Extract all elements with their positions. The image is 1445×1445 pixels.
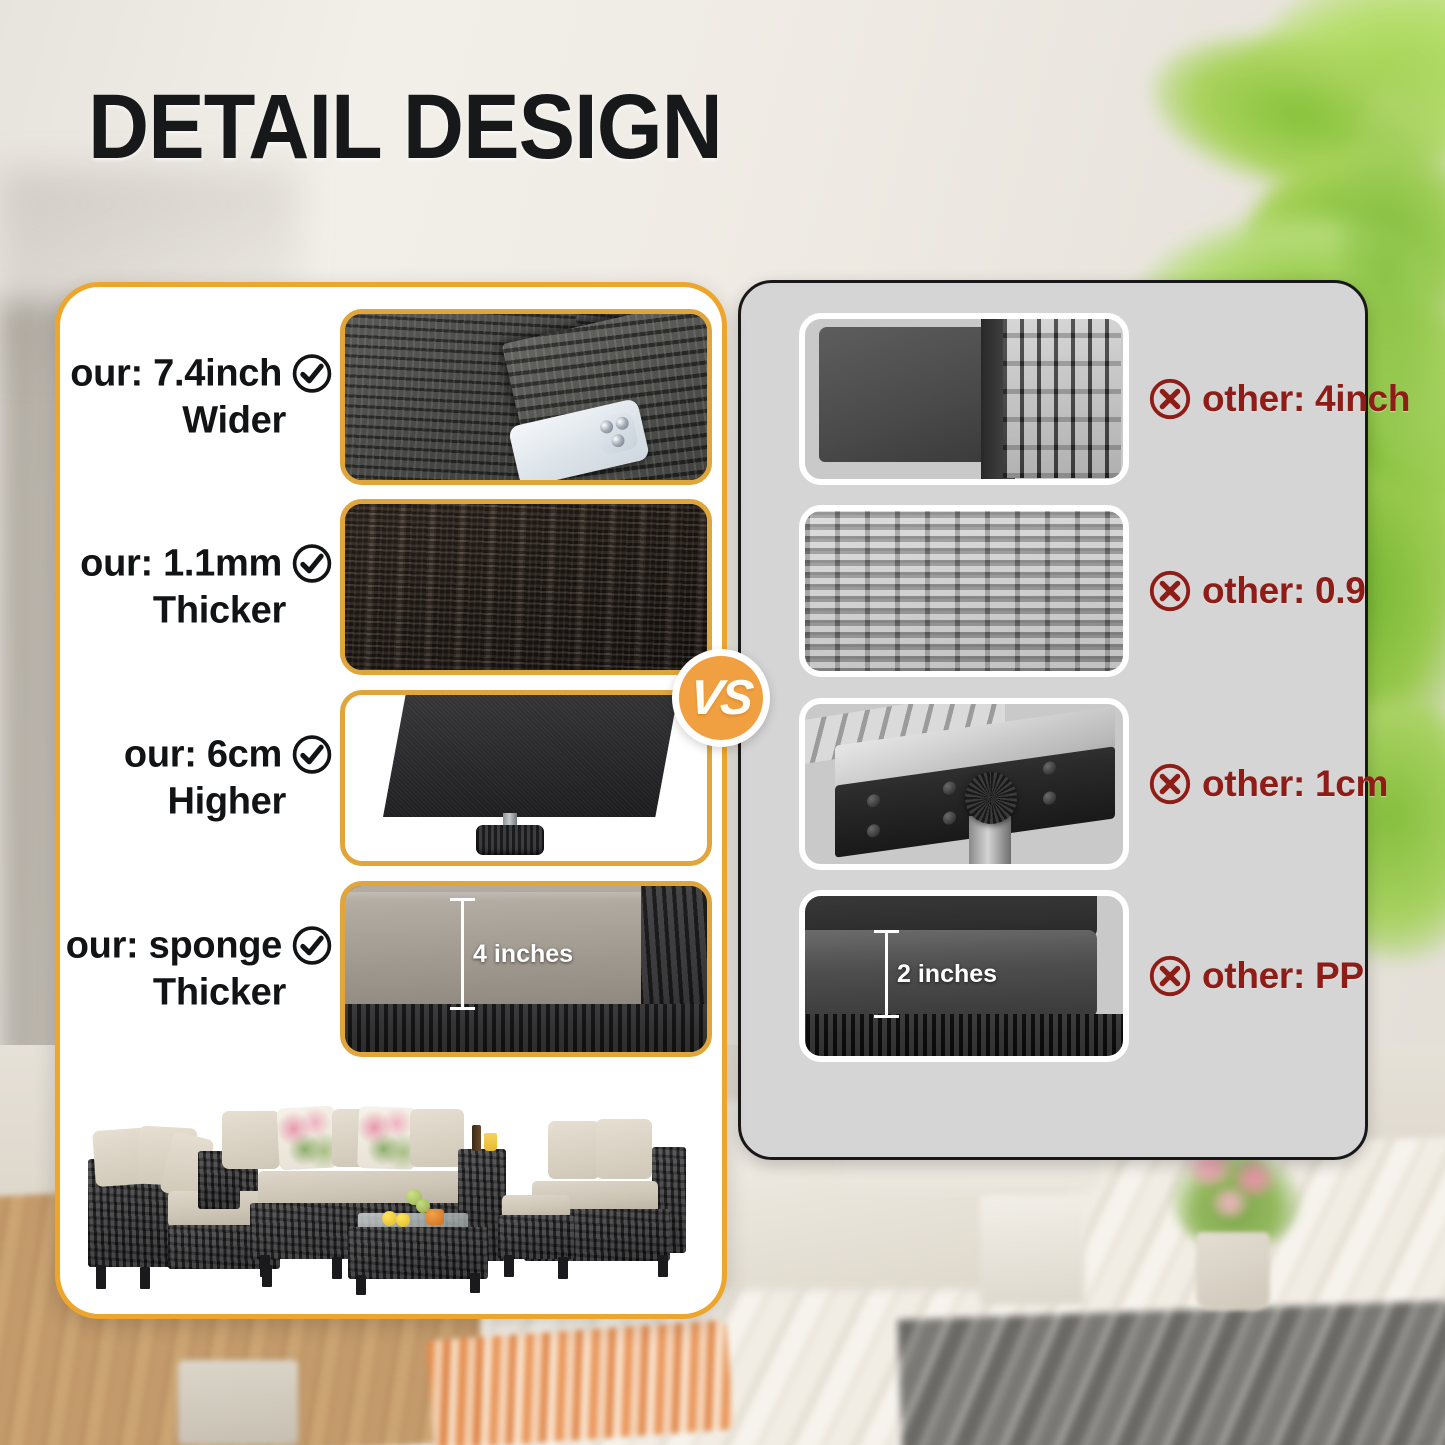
sofa-seat-cushion (258, 1171, 474, 1205)
our-row: our: 7.4inch Wider (76, 309, 716, 485)
our-row: our: 1.1mm Thicker (76, 499, 716, 675)
background-dark-rug (898, 1300, 1445, 1445)
our-label-text: our: sponge (66, 924, 282, 967)
infographic-canvas: DETAIL DESIGN other: 4inch (0, 0, 1445, 1445)
other-row: other: 1cm (799, 698, 1371, 870)
our-row: our: 6cm Higher (76, 690, 716, 866)
other-label-text: other: 4inch (1202, 378, 1410, 420)
measurement-label: 2 inches (897, 960, 997, 989)
sofa-floral-pillow (357, 1106, 417, 1170)
x-circle-icon (1147, 376, 1193, 422)
tall-adjustable-leg-photo (340, 690, 712, 866)
our-label-text: our: 6cm (124, 733, 282, 776)
rivet-icon (943, 811, 956, 826)
ottoman-leg (558, 1257, 568, 1279)
basket-weave-texture (345, 504, 707, 670)
camera-lens-icon (614, 415, 630, 431)
rivet-icon (867, 793, 880, 808)
thin-rattan-weave-closeup-photo (799, 505, 1129, 677)
other-label: other: 1cm (1147, 761, 1388, 807)
drink-glass-icon (484, 1133, 497, 1151)
our-label: our: sponge Thicker (76, 924, 334, 1015)
page-title: DETAIL DESIGN (88, 75, 722, 180)
bottle-icon (472, 1125, 481, 1151)
flower-pot (1196, 1232, 1270, 1310)
ottoman-leg (504, 1255, 514, 1277)
other-row: other: 4inch (799, 313, 1371, 485)
rivet-icon (1043, 761, 1056, 776)
other-label: other: 0.9 (1147, 568, 1366, 614)
background-side-table (980, 1195, 1085, 1305)
lemon-icon (396, 1213, 410, 1227)
our-label-subtext: Thicker (76, 590, 334, 633)
other-label: other: 4inch (1147, 376, 1410, 422)
background-stool (178, 1360, 298, 1445)
wicker-column (1003, 313, 1121, 478)
rivet-icon (867, 823, 880, 838)
narrow-armrest-photo (799, 313, 1129, 485)
adjustable-foot-icon (476, 825, 544, 855)
sofa-leg (96, 1265, 106, 1289)
check-circle-icon (290, 352, 334, 396)
sofa-floral-pillow (276, 1106, 337, 1171)
camera-lens-icon (610, 433, 626, 449)
sofa-back-pillow (410, 1109, 464, 1167)
other-row: 2 inches other: PP (799, 890, 1371, 1062)
table-leg (356, 1275, 366, 1295)
phone-camera-module-icon (594, 410, 640, 456)
flower-bloom-icon (1212, 1188, 1248, 1218)
sofa-back-pillow (548, 1121, 600, 1179)
vs-label: VS (687, 670, 754, 726)
rattan-base (340, 1004, 712, 1057)
cushion-side-wicker (641, 881, 712, 1022)
lemon-icon (382, 1211, 397, 1226)
sofa-leg (332, 1257, 342, 1279)
check-circle-icon (290, 542, 334, 586)
camera-lens-icon (599, 419, 615, 435)
thin-weave-texture (805, 511, 1123, 671)
wide-armrest-with-phone-photo (340, 309, 712, 485)
adjuster-knob-icon (965, 772, 1017, 824)
our-label-subtext: Thicker (76, 972, 334, 1015)
x-circle-icon (1147, 761, 1193, 807)
our-label-text: our: 7.4inch (70, 352, 282, 395)
measurement-bar (885, 930, 888, 1018)
x-circle-icon (1147, 953, 1193, 999)
support-post (969, 816, 1011, 870)
check-circle-icon (290, 733, 334, 777)
other-label: other: PP (1147, 953, 1364, 999)
other-comparison-panel: other: 4inch other: 0.9 (738, 280, 1368, 1160)
check-circle-icon (290, 924, 334, 968)
ottoman-body (498, 1215, 574, 1259)
our-label: our: 7.4inch Wider (76, 352, 334, 443)
sofa-leg (658, 1255, 668, 1277)
cushion-measurement: 2 inches (885, 930, 997, 1018)
other-label-text: other: 0.9 (1202, 570, 1366, 612)
tapered-leg (383, 690, 679, 817)
thin-pp-cushion-photo: 2 inches (799, 890, 1129, 1062)
other-label-text: other: PP (1202, 955, 1364, 997)
sofa-leg (260, 1255, 270, 1277)
measurement-label: 4 inches (473, 940, 573, 969)
background-striped-towel (427, 1320, 734, 1445)
cushion-measurement: 4 inches (461, 898, 573, 1010)
x-circle-icon (1147, 568, 1193, 614)
our-row: our: sponge Thicker 4 inches (76, 881, 716, 1057)
our-label-subtext: Wider (76, 400, 334, 443)
rattan-base (799, 1014, 1129, 1062)
thick-rattan-weave-closeup-photo (340, 499, 712, 675)
other-row: other: 0.9 (799, 505, 1371, 677)
vs-badge: VS (672, 649, 770, 747)
fruit-bowl-icon (426, 1209, 444, 1225)
measurement-bar (461, 898, 464, 1010)
short-leg-bracket-photo (799, 698, 1129, 870)
coffee-table-body (348, 1227, 488, 1279)
rivet-icon (1043, 791, 1056, 806)
table-leg (470, 1273, 480, 1293)
other-label-text: other: 1cm (1202, 763, 1388, 805)
our-comparison-panel: our: 7.4inch Wider (55, 282, 727, 1319)
sofa-back-pillow (596, 1119, 652, 1179)
sofa-leg (140, 1267, 150, 1289)
our-label: our: 6cm Higher (76, 733, 334, 824)
rivet-icon (943, 781, 956, 796)
our-label: our: 1.1mm Thicker (76, 542, 334, 633)
sofa-back-pillow (222, 1111, 280, 1169)
our-label-subtext: Higher (76, 781, 334, 824)
our-label-text: our: 1.1mm (80, 542, 282, 585)
thick-sponge-cushion-photo: 4 inches (340, 881, 712, 1057)
full-sectional-sofa-set-photo (80, 1087, 710, 1302)
